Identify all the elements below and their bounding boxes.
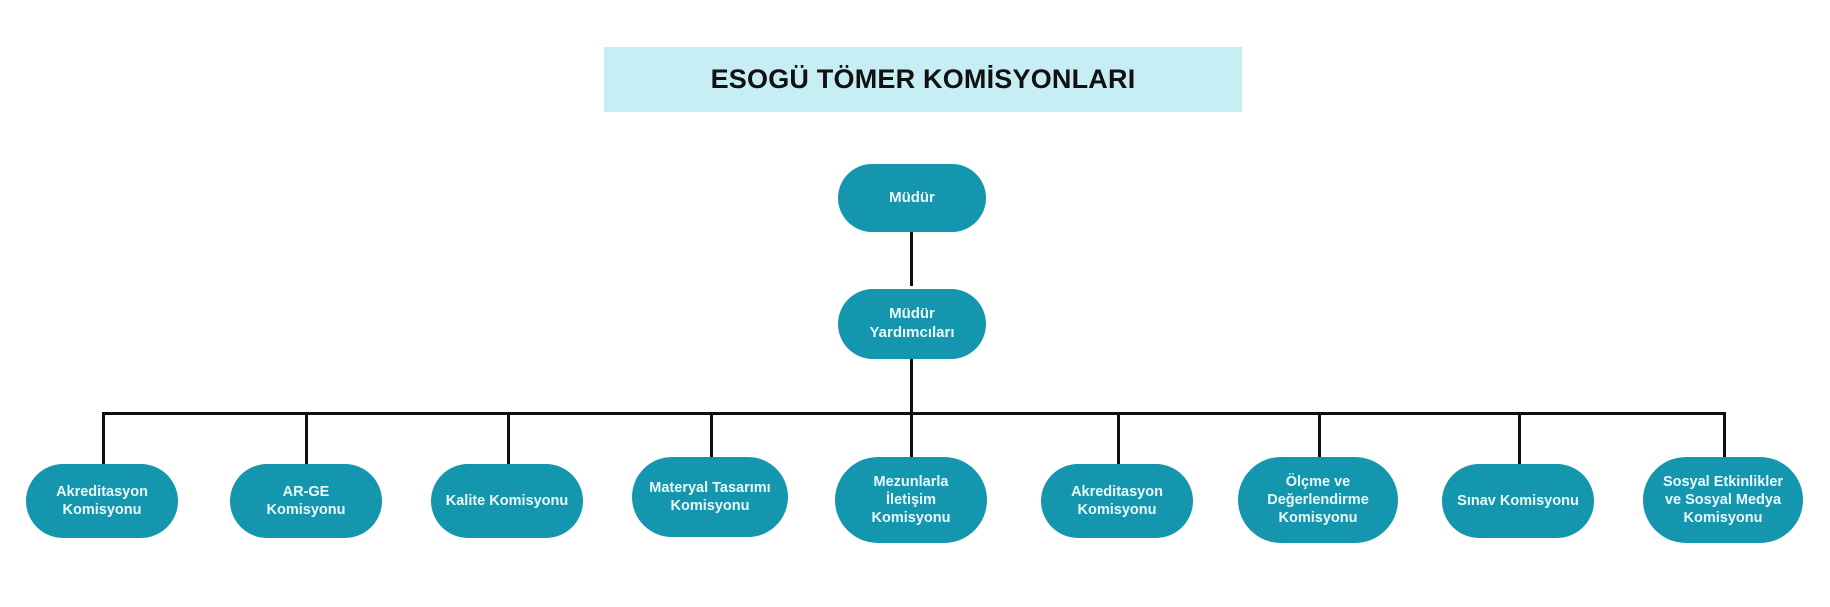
connector-drop-akreditasyon-1 bbox=[102, 412, 105, 467]
connector-drop-materyal bbox=[710, 412, 713, 458]
connector-mudur-to-yardimcilari bbox=[910, 230, 913, 286]
connector-horizontal-bus-right bbox=[1494, 412, 1726, 415]
connector-yardimcilari-stem bbox=[910, 358, 913, 415]
node-sosyal-etkinlikler-ve-sosyal-medya-komisyonu[interactable]: Sosyal Etkinlikler ve Sosyal Medya Komis… bbox=[1643, 457, 1803, 543]
node-mudur-yardimcilari[interactable]: Müdür Yardımcıları bbox=[838, 289, 986, 359]
node-sosyal-etkinlikler-ve-sosyal-medya-komisyonu-label: Sosyal Etkinlikler ve Sosyal Medya Komis… bbox=[1649, 473, 1797, 527]
node-sinav-komisyonu[interactable]: Sınav Komisyonu bbox=[1442, 464, 1594, 538]
connector-drop-mezunlarla bbox=[910, 412, 913, 458]
connector-drop-sosyal bbox=[1723, 412, 1726, 458]
node-olcme-ve-degerlendirme-komisyonu-label: Ölçme ve Değerlendirme Komisyonu bbox=[1244, 473, 1392, 527]
node-mudur[interactable]: Müdür bbox=[838, 164, 986, 232]
node-sinav-komisyonu-label: Sınav Komisyonu bbox=[1448, 492, 1588, 510]
connector-drop-sinav bbox=[1518, 412, 1521, 467]
node-kalite-komisyonu-label: Kalite Komisyonu bbox=[437, 492, 577, 510]
chart-title-banner: ESOGÜ TÖMER KOMİSYONLARI bbox=[604, 47, 1242, 112]
node-mudur-label: Müdür bbox=[844, 189, 980, 208]
node-akreditasyon-komisyonu-2-label: Akreditasyon Komisyonu bbox=[1047, 483, 1187, 519]
connector-drop-akreditasyon-2 bbox=[1117, 412, 1120, 467]
connector-drop-ar-ge bbox=[305, 412, 308, 467]
node-akreditasyon-komisyonu-1-label: Akreditasyon Komisyonu bbox=[32, 483, 172, 519]
node-kalite-komisyonu[interactable]: Kalite Komisyonu bbox=[431, 464, 583, 538]
node-akreditasyon-komisyonu-2[interactable]: Akreditasyon Komisyonu bbox=[1041, 464, 1193, 538]
node-materyal-tasarimi-komisyonu[interactable]: Materyal Tasarımı Komisyonu bbox=[632, 457, 788, 537]
node-ar-ge-komisyonu[interactable]: AR-GE Komisyonu bbox=[230, 464, 382, 538]
node-mezunlarla-iletisim-komisyonu-label: Mezunlarla İletişim Komisyonu bbox=[841, 473, 981, 527]
org-chart-canvas: ESOGÜ TÖMER KOMİSYONLARI Müdür Müdür Yar… bbox=[0, 0, 1830, 607]
node-ar-ge-komisyonu-label: AR-GE Komisyonu bbox=[236, 483, 376, 519]
connector-horizontal-bus bbox=[102, 412, 1496, 415]
node-olcme-ve-degerlendirme-komisyonu[interactable]: Ölçme ve Değerlendirme Komisyonu bbox=[1238, 457, 1398, 543]
connector-drop-kalite bbox=[507, 412, 510, 467]
node-mudur-yardimcilari-label: Müdür Yardımcıları bbox=[844, 305, 980, 343]
node-mezunlarla-iletisim-komisyonu[interactable]: Mezunlarla İletişim Komisyonu bbox=[835, 457, 987, 543]
connector-drop-olcme bbox=[1318, 412, 1321, 458]
node-akreditasyon-komisyonu-1[interactable]: Akreditasyon Komisyonu bbox=[26, 464, 178, 538]
node-materyal-tasarimi-komisyonu-label: Materyal Tasarımı Komisyonu bbox=[638, 479, 782, 515]
page-title: ESOGÜ TÖMER KOMİSYONLARI bbox=[711, 64, 1136, 95]
